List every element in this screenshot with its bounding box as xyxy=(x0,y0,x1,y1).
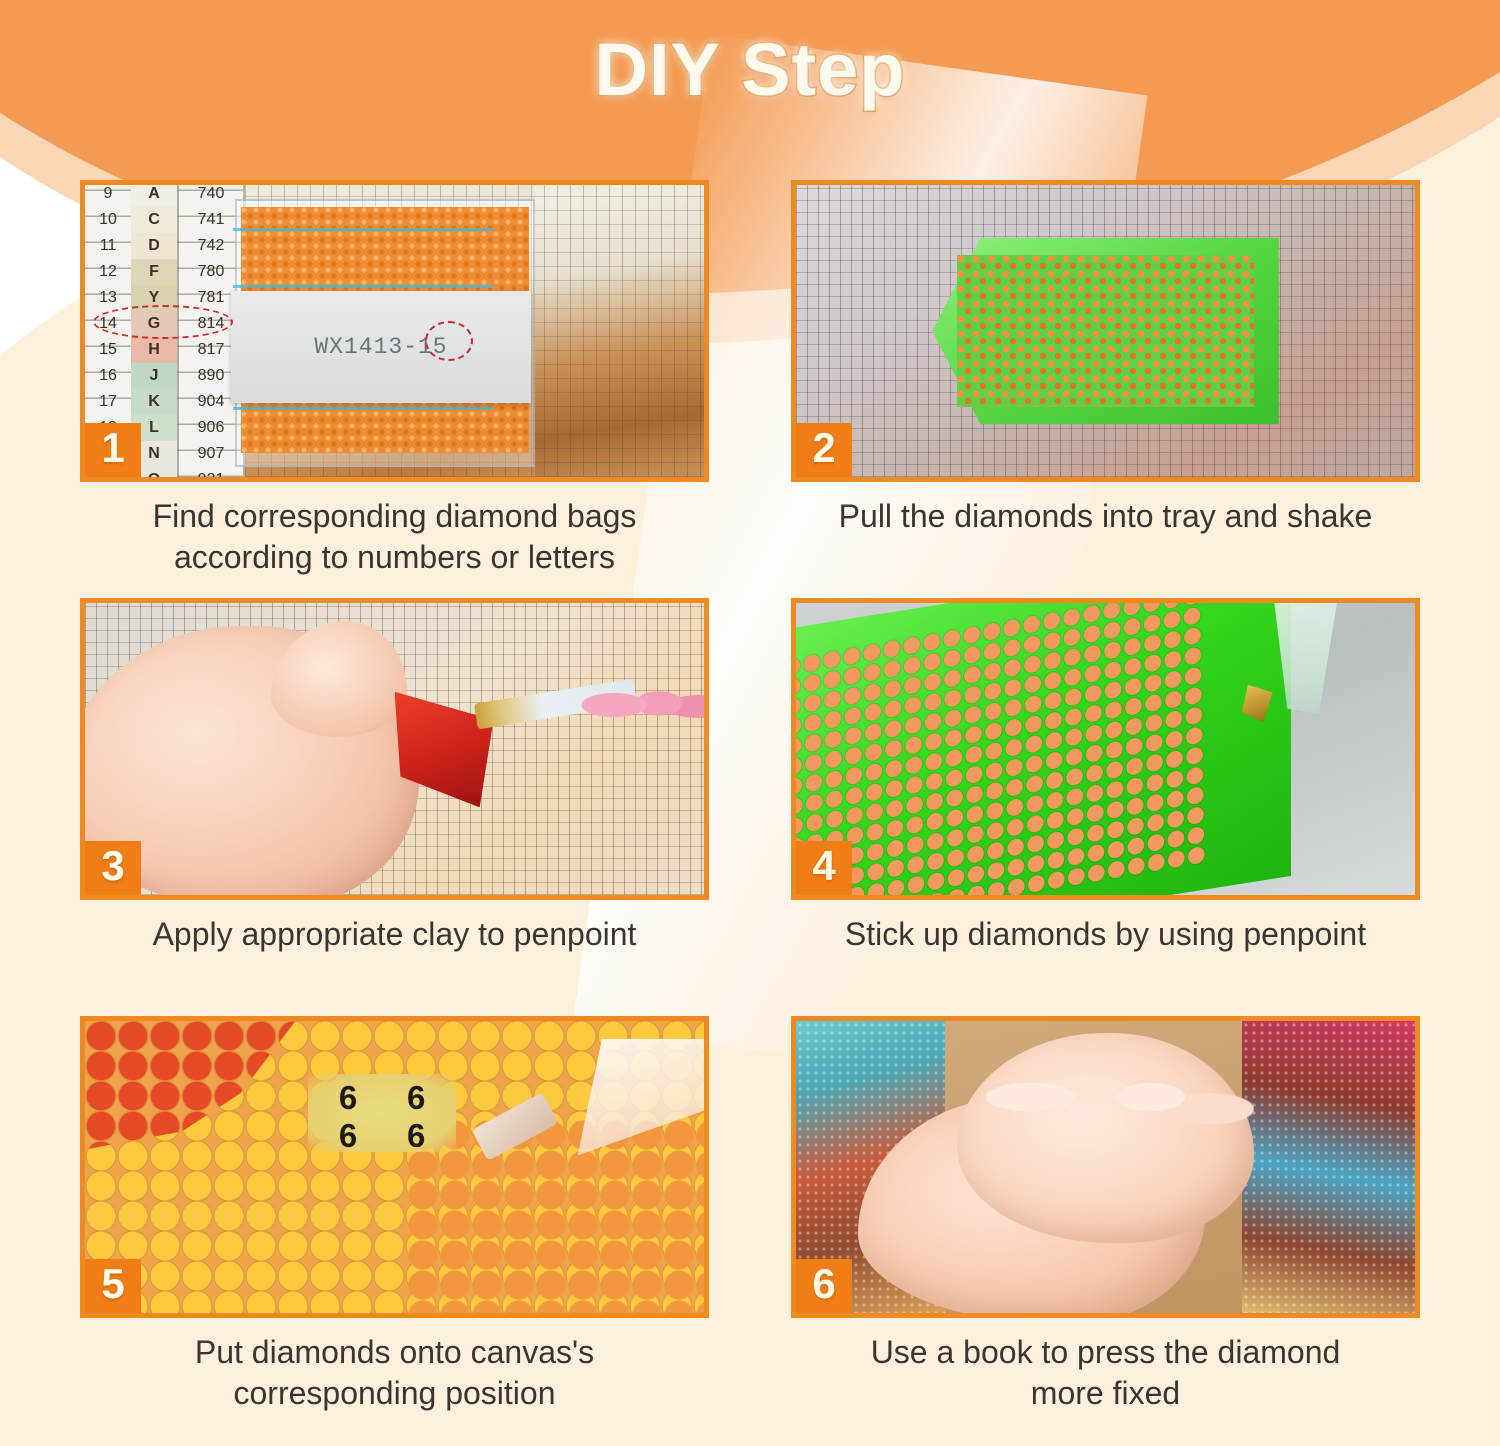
chart-cell-code: 921 xyxy=(177,471,245,482)
chart-cell-num: 9 xyxy=(85,185,131,203)
chart-cell-letter: J xyxy=(131,363,177,389)
chart-row: 12F780 xyxy=(85,259,245,285)
canvas-number: 6 xyxy=(339,1117,357,1155)
page-title: DIY Step xyxy=(595,27,906,112)
highlight-ellipse-chart-row xyxy=(93,305,233,339)
scene-tray-on-canvas xyxy=(796,185,1415,477)
step-photo-2: 2 xyxy=(791,180,1420,482)
scene-pressing-canvas xyxy=(796,1021,1415,1313)
chart-cell-num: 16 xyxy=(85,367,131,385)
step-caption-3-line1: Apply appropriate clay to penpoint xyxy=(153,914,637,955)
step-caption-6-line2: more fixed xyxy=(871,1373,1341,1414)
diamonds-in-tray xyxy=(957,255,1254,407)
pink-fingernails xyxy=(580,667,709,743)
step-caption-5: Put diamonds onto canvas's corresponding… xyxy=(191,1332,598,1428)
scene-pen-picking-diamond xyxy=(796,603,1415,895)
canvas-number: 6 xyxy=(407,1079,425,1117)
step-photo-3: 3 xyxy=(80,598,709,900)
step-card-3: 3 Apply appropriate clay to penpoint xyxy=(80,598,709,1010)
scene-diamond-bag: 9A74010C74111D74212F78013Y78114G81415H81… xyxy=(85,185,704,477)
step-caption-2-line1: Pull the diamonds into tray and shake xyxy=(839,496,1373,537)
chart-row: 15H817 xyxy=(85,337,245,363)
canvas-symbol-numbers: 6 6 6 6 xyxy=(314,1079,450,1143)
step-card-4: 4 Stick up diamonds by using penpoint xyxy=(791,598,1420,1010)
step-photo-5: 6 6 6 6 5 xyxy=(80,1016,709,1318)
step-caption-4-line1: Stick up diamonds by using penpoint xyxy=(845,914,1366,955)
bag-label: WX1413-15 xyxy=(231,291,531,403)
chart-cell-num: 11 xyxy=(85,237,131,255)
chart-cell-num: 15 xyxy=(85,341,131,359)
step-badge-3: 3 xyxy=(85,841,141,895)
step-caption-3: Apply appropriate clay to penpoint xyxy=(149,914,641,1010)
steps-grid: 9A74010C74111D74212F78013Y78114G81415H81… xyxy=(0,150,1500,1428)
canvas-number: 6 xyxy=(339,1079,357,1117)
step-caption-5-line2: corresponding position xyxy=(195,1373,594,1414)
step-caption-6-line1: Use a book to press the diamond xyxy=(871,1332,1341,1373)
chart-row: 10C741 xyxy=(85,207,245,233)
chart-cell-num: 17 xyxy=(85,393,131,411)
step-caption-4: Stick up diamonds by using penpoint xyxy=(841,914,1370,1010)
chart-cell-letter: C xyxy=(131,207,177,233)
scene-diamonds-on-canvas: 6 6 6 6 xyxy=(85,1021,704,1313)
step-badge-5: 5 xyxy=(85,1259,141,1313)
chart-cell-letter: A xyxy=(131,181,177,207)
chart-row: 17K904 xyxy=(85,389,245,415)
step-badge-4: 4 xyxy=(796,841,852,895)
highlight-ellipse-label-code xyxy=(425,321,473,361)
step-caption-1-line2: according to numbers or letters xyxy=(153,537,637,578)
step-card-2: 2 Pull the diamonds into tray and shake xyxy=(791,180,1420,592)
page-header: DIY Step xyxy=(0,0,1500,150)
finished-canvas-right xyxy=(1242,1021,1415,1313)
step-card-1: 9A74010C74111D74212F78013Y78114G81415H81… xyxy=(80,180,709,592)
step-caption-6: Use a book to press the diamond more fix… xyxy=(867,1332,1345,1428)
chart-cell-letter: F xyxy=(131,259,177,285)
step-caption-2: Pull the diamonds into tray and shake xyxy=(835,496,1377,592)
chart-row: 16J890 xyxy=(85,363,245,389)
fingers xyxy=(982,1027,1254,1144)
chart-cell-num: 13 xyxy=(85,289,131,307)
chart-cell-num: 12 xyxy=(85,263,131,281)
chart-row: 9A740 xyxy=(85,181,245,207)
chart-cell-letter: D xyxy=(131,233,177,259)
step-card-5: 6 6 6 6 5 Put diamonds onto canvas's cor… xyxy=(80,1016,709,1428)
chart-cell-letter: K xyxy=(131,389,177,415)
chart-row: 11D742 xyxy=(85,233,245,259)
canvas-number: 6 xyxy=(407,1117,425,1155)
step-caption-5-line1: Put diamonds onto canvas's xyxy=(195,1332,594,1373)
step-photo-4: 4 xyxy=(791,598,1420,900)
chart-cell-letter: H xyxy=(131,337,177,363)
step-caption-1: Find corresponding diamond bags accordin… xyxy=(149,496,641,592)
scene-clay-on-penpoint xyxy=(85,603,704,895)
chart-cell-num: 10 xyxy=(85,211,131,229)
step-badge-6: 6 xyxy=(796,1259,852,1313)
step-card-6: 6 Use a book to press the diamond more f… xyxy=(791,1016,1420,1428)
step-badge-2: 2 xyxy=(796,423,852,477)
step-photo-1: 9A74010C74111D74212F78013Y78114G81415H81… xyxy=(80,180,709,482)
step-badge-1: 1 xyxy=(85,423,141,477)
step-photo-6: 6 xyxy=(791,1016,1420,1318)
step-caption-1-line1: Find corresponding diamond bags xyxy=(153,496,637,537)
